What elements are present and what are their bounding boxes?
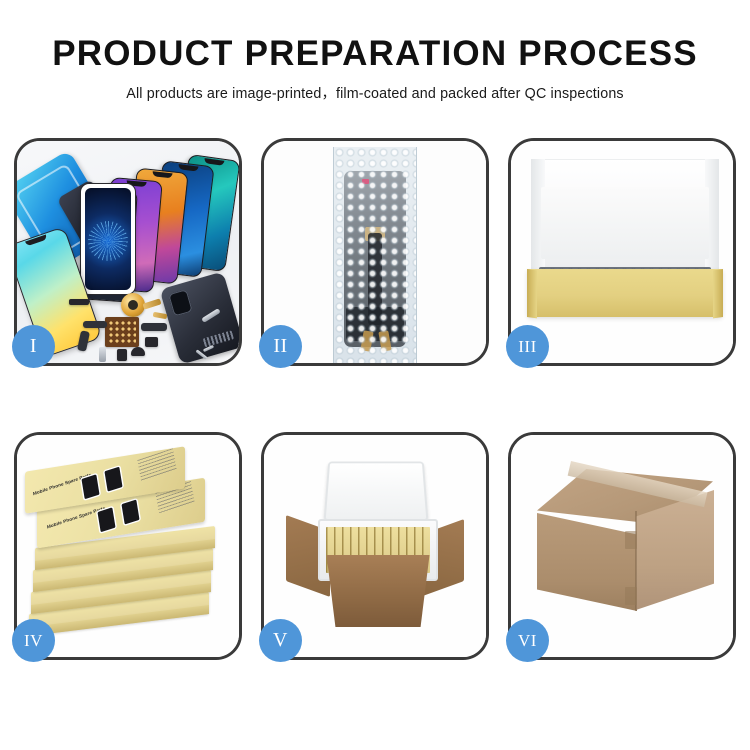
notch-icon (25, 235, 47, 247)
box-spec-lines (137, 448, 176, 481)
foam-lid (324, 462, 429, 522)
carton-body (322, 555, 434, 627)
step-badge-1: I (12, 325, 55, 368)
bubble-wrap-photo (264, 141, 486, 363)
ic-board-part (105, 317, 139, 347)
component-chip (145, 337, 158, 347)
process-step-panel-1[interactable]: I (14, 138, 242, 366)
page-subtitle: All products are image-printed，film-coat… (0, 82, 750, 103)
notch-icon (178, 164, 198, 171)
bubble-wrap-bag (333, 147, 417, 363)
step-3-image (511, 141, 733, 363)
flex-cable-part (83, 321, 107, 328)
component-chip (117, 349, 127, 361)
notch-icon (204, 158, 225, 166)
tempered-glass-screen (80, 183, 136, 295)
open-mailer-photo (511, 141, 733, 363)
glass-wallpaper (85, 188, 131, 290)
step-2-image (264, 141, 486, 363)
mailer-tray-base (527, 269, 723, 317)
process-step-panel-6[interactable]: VI (508, 432, 736, 660)
process-step-panel-5[interactable]: V (261, 432, 489, 660)
step-badge-3: III (506, 325, 549, 368)
box-window-icon (81, 474, 99, 499)
process-step-panel-3[interactable]: III (508, 138, 736, 366)
step-4-image: Mobile Phone Spare Parts Mobile Phone Sp… (17, 435, 239, 657)
sim-tray-part (99, 347, 106, 362)
process-step-panel-4[interactable]: Mobile Phone Spare Parts Mobile Phone Sp… (14, 432, 242, 660)
carton-seal-lower (625, 587, 637, 605)
bubble-texture-icon (334, 147, 416, 363)
step-1-image (17, 141, 239, 363)
box-label: Mobile Phone Spare Parts (47, 505, 106, 529)
back-cover-part (160, 271, 239, 363)
step-6-image (511, 435, 733, 657)
burst-pattern-icon (88, 221, 128, 261)
step-badge-6: VI (506, 619, 549, 662)
product-preparation-infographic: PRODUCT PREPARATION PROCESS All products… (0, 0, 750, 750)
process-step-panel-2[interactable]: II (261, 138, 489, 366)
page-title: PRODUCT PREPARATION PROCESS (0, 36, 750, 73)
step-badge-5: V (259, 619, 302, 662)
step-badge-2: II (259, 325, 302, 368)
header: PRODUCT PREPARATION PROCESS All products… (0, 0, 750, 103)
process-step-grid: I II (14, 138, 736, 660)
gold-connector-part (153, 312, 168, 319)
carton-front-face (537, 513, 637, 611)
sealed-carton-photo (511, 435, 733, 657)
carton-foam-photo (264, 435, 486, 657)
phone-parts-photo (17, 141, 239, 363)
component-chip (69, 299, 89, 305)
gold-connector-part (143, 298, 162, 309)
box-window-icon (104, 467, 122, 492)
earpiece-part (131, 347, 145, 356)
flex-cable-part (141, 323, 167, 331)
box-window-icon (121, 500, 139, 525)
box-window-icon (97, 507, 115, 532)
foam-sheet (541, 187, 709, 259)
speaker-coil-part (121, 293, 145, 317)
notch-icon (152, 171, 172, 178)
step-badge-4: IV (12, 619, 55, 662)
carton-seal-upper (625, 531, 637, 549)
step-5-image (264, 435, 486, 657)
retail-box-stack-photo: Mobile Phone Spare Parts Mobile Phone Sp… (17, 435, 239, 657)
